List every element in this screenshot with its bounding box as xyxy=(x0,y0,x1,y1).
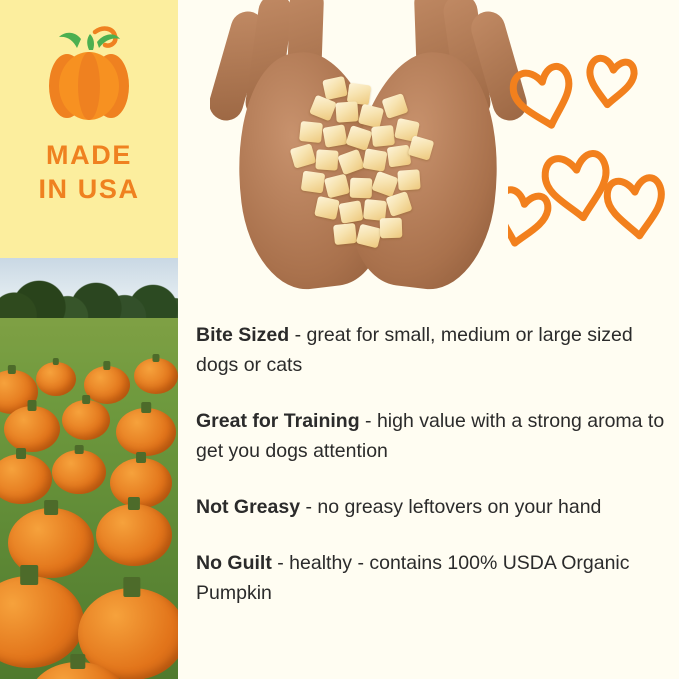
pumpkin-patch-photo xyxy=(0,258,178,679)
feature-title: Not Greasy xyxy=(196,496,300,518)
badge-line-2: IN USA xyxy=(0,172,178,206)
left-column: MADE IN USA xyxy=(0,0,178,679)
feature-item: No Guilt - healthy - contains 100% USDA … xyxy=(196,548,666,608)
main-column: Bite Sized - great for small, medium or … xyxy=(178,0,679,679)
feature-item: Not Greasy - no greasy leftovers on your… xyxy=(196,492,666,522)
feature-title: Great for Training xyxy=(196,410,360,432)
freeze-dried-pumpkin-cubes xyxy=(296,78,446,260)
heart-doodles xyxy=(508,20,678,290)
hands-with-treats-photo xyxy=(210,0,530,300)
pumpkin-icon xyxy=(43,26,135,124)
feature-item: Bite Sized - great for small, medium or … xyxy=(196,320,666,380)
made-in-usa-label: MADE IN USA xyxy=(0,138,178,206)
feature-text: - no greasy leftovers on your hand xyxy=(300,496,601,518)
badge-line-1: MADE xyxy=(0,138,178,172)
feature-item: Great for Training - high value with a s… xyxy=(196,406,666,466)
feature-title: Bite Sized xyxy=(196,324,289,346)
feature-list: Bite Sized - great for small, medium or … xyxy=(196,320,666,634)
product-infographic: MADE IN USA xyxy=(0,0,679,679)
feature-title: No Guilt xyxy=(196,552,272,574)
